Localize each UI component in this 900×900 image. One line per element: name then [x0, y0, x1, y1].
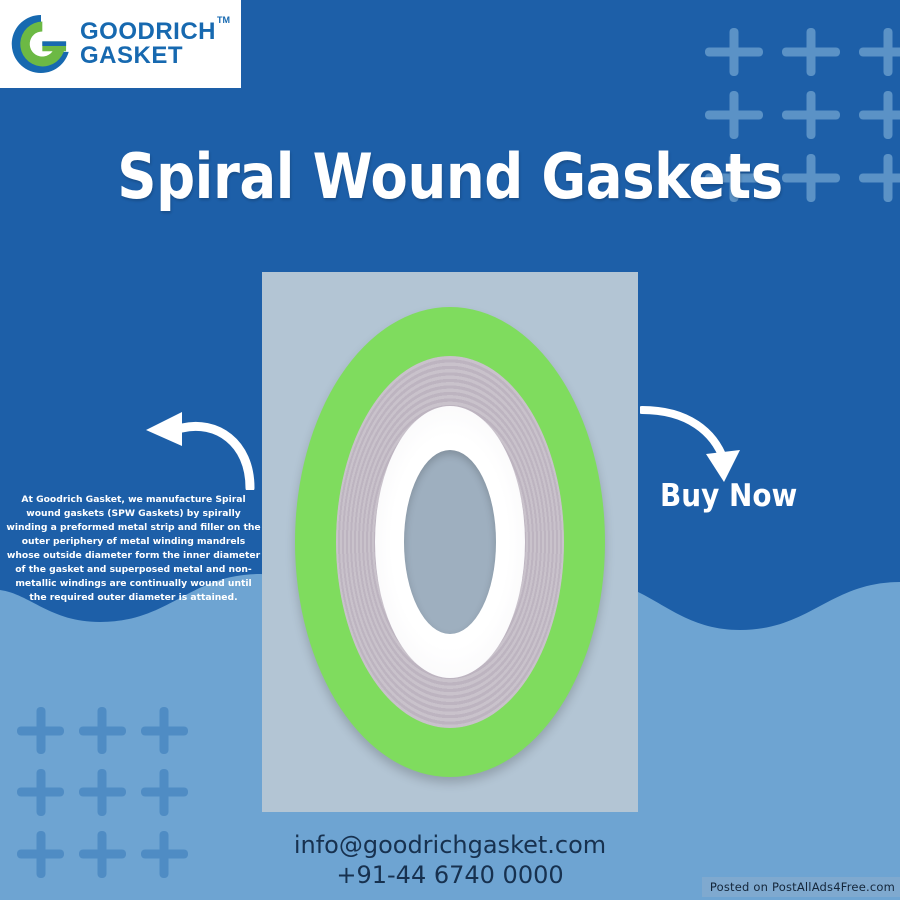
brand-logo-line1: GOODRICH — [80, 20, 216, 44]
product-description: At Goodrich Gasket, we manufacture Spira… — [6, 493, 261, 605]
brand-logo[interactable]: GOODRICH GASKET TM — [0, 0, 241, 88]
plus-icon — [773, 20, 850, 83]
plus-icon — [849, 147, 900, 210]
plus-icon — [10, 762, 72, 824]
brand-logo-text: GOODRICH GASKET TM — [80, 20, 216, 68]
plus-icon — [696, 83, 773, 146]
plus-icon — [133, 700, 195, 762]
plus-icon — [72, 700, 134, 762]
plus-icon — [133, 762, 195, 824]
plus-icon — [72, 762, 134, 824]
plus-icon — [10, 700, 72, 762]
goodrich-g-monogram-icon — [8, 11, 74, 77]
gasket-center-bore — [404, 450, 496, 634]
watermark: Posted on PostAllAds4Free.com — [702, 877, 900, 897]
buy-now-button[interactable]: Buy Now — [660, 478, 822, 514]
plus-icon — [696, 20, 773, 83]
plus-icon — [849, 83, 900, 146]
plus-icon — [773, 83, 850, 146]
promo-poster: GOODRICH GASKET TM Spiral Wound Gaskets … — [0, 0, 900, 900]
page-title: Spiral Wound Gaskets — [54, 140, 846, 213]
curved-arrow-down-right-icon — [640, 404, 760, 484]
curved-arrow-left-icon — [138, 408, 258, 490]
spiral-wound-gasket-image — [295, 307, 605, 777]
brand-logo-line2: GASKET — [80, 44, 216, 68]
contact-email[interactable]: info@goodrichgasket.com — [0, 830, 900, 860]
plus-icon — [849, 20, 900, 83]
product-image-panel — [262, 272, 638, 812]
trademark-symbol: TM — [217, 16, 230, 25]
